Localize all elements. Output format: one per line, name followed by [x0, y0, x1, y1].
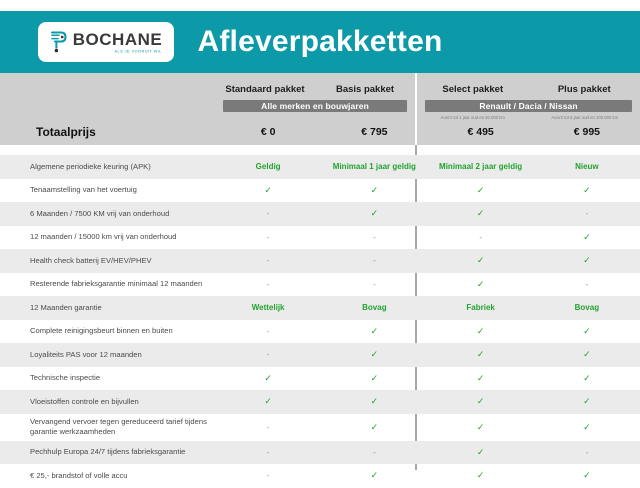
feature-value-cell: ✓	[215, 373, 321, 384]
feature-value-cell: -	[321, 233, 427, 242]
price-select: € 495	[428, 126, 534, 138]
feature-values: GeldigMinimaal 1 jaar geldigMinimaal 2 j…	[215, 155, 640, 179]
feature-value-cell: ✓	[428, 349, 534, 360]
feature-values: -✓✓✓	[215, 414, 640, 441]
feature-values: ✓✓✓✓	[215, 367, 640, 391]
feature-value-cell: ✓	[428, 326, 534, 337]
feature-value-cell: ✓	[321, 185, 427, 196]
feature-value-cell: ✓	[215, 185, 321, 196]
feature-values: --✓-	[215, 273, 640, 297]
feature-label: Resterende fabrieksgarantie minimaal 12 …	[0, 279, 215, 289]
feature-value-cell: ✓	[321, 349, 427, 360]
feature-values: ✓✓✓✓	[215, 179, 640, 203]
column-title-select: Select pakket	[417, 84, 529, 95]
group-band-all-brands: Alle merken en bouwjaren	[223, 100, 407, 112]
feature-values: -✓✓✓	[215, 464, 640, 488]
feature-label: Technische inspectie	[0, 373, 215, 383]
group-band-label: Alle merken en bouwjaren	[261, 101, 369, 111]
feature-value-cell: Fabriek	[428, 303, 534, 312]
bochane-logo[interactable]: BOCHANE ALS JE VOORUIT WIL	[38, 22, 174, 62]
feature-value-cell: -	[215, 350, 321, 359]
feature-value-cell: ✓	[428, 208, 534, 219]
feature-value-cell: -	[428, 233, 534, 242]
feature-value-cell: Bovag	[534, 303, 640, 312]
feature-value-cell: ✓	[534, 255, 640, 266]
feature-value-cell: -	[534, 209, 640, 218]
table-row: 6 Maanden / 7500 KM vrij van onderhoud-✓…	[0, 202, 640, 226]
table-row: Resterende fabrieksgarantie minimaal 12 …	[0, 273, 640, 297]
price-basis: € 795	[321, 126, 427, 138]
feature-value-cell: ✓	[321, 326, 427, 337]
table-row: Algemene periodieke keuring (APK)GeldigM…	[0, 155, 640, 179]
feature-value-cell: -	[321, 256, 427, 265]
feature-value-cell: Geldig	[215, 162, 321, 171]
feature-value-cell: ✓	[428, 447, 534, 458]
table-row: Loyaliteits PAS voor 12 maanden-✓✓✓	[0, 343, 640, 367]
column-title-standaard: Standaard pakket	[215, 84, 315, 95]
feature-values: -✓✓✓	[215, 320, 640, 344]
feature-values: ✓✓✓✓	[215, 390, 640, 414]
feature-value-cell: Minimaal 1 jaar geldig	[321, 162, 427, 171]
feature-label: Health check batterij EV/HEV/PHEV	[0, 256, 215, 266]
feature-value-cell: ✓	[534, 396, 640, 407]
feature-value-cell: Minimaal 2 jaar geldig	[428, 162, 534, 171]
feature-value-cell: Nieuw	[534, 162, 640, 171]
feature-value-cell: ✓	[428, 422, 534, 433]
feature-value-cell: ✓	[428, 279, 534, 290]
table-row: Pechhulp Europa 24/7 tijdens fabrieksgar…	[0, 441, 640, 465]
feature-value-cell: -	[215, 280, 321, 289]
feature-value-cell: ✓	[428, 396, 534, 407]
feature-value-cell: ✓	[428, 185, 534, 196]
feature-value-cell: -	[215, 256, 321, 265]
feature-label: Vloeistoffen controle en bijvullen	[0, 397, 215, 407]
table-row: Vloeistoffen controle en bijvullen✓✓✓✓	[0, 390, 640, 414]
feature-label: 12 Maanden garantie	[0, 303, 215, 313]
afleverpakketten-page: BOCHANE ALS JE VOORUIT WIL Afleverpakket…	[0, 0, 640, 480]
feature-value-cell: -	[215, 448, 321, 457]
feature-values: -✓✓-	[215, 202, 640, 226]
page-banner: BOCHANE ALS JE VOORUIT WIL Afleverpakket…	[0, 11, 640, 73]
bochane-key-icon	[50, 31, 69, 53]
feature-value-cell: -	[534, 448, 640, 457]
feature-rows: Algemene periodieke keuring (APK)GeldigM…	[0, 155, 640, 488]
logo-wordmark: BOCHANE	[73, 31, 162, 48]
feature-value-cell: Bovag	[321, 303, 427, 312]
feature-value-cell: ✓	[428, 373, 534, 384]
price-plus: € 995	[534, 126, 640, 138]
logo-tagline: ALS JE VOORUIT WIL	[115, 50, 162, 54]
feature-values: -✓✓✓	[215, 343, 640, 367]
feature-label: 12 maanden / 15000 km vrij van onderhoud	[0, 232, 215, 242]
feature-label: € 25,- brandstof of volle accu	[0, 471, 215, 481]
feature-label: Tenaamstelling van het voertuig	[0, 185, 215, 195]
feature-value-cell: ✓	[321, 396, 427, 407]
feature-value-cell: -	[215, 327, 321, 336]
feature-value-cell: -	[534, 280, 640, 289]
feature-value-cell: ✓	[534, 326, 640, 337]
feature-values: --✓-	[215, 441, 640, 465]
table-row: Complete reinigingsbeurt binnen en buite…	[0, 320, 640, 344]
table-row: Vervangend vervoer tegen gereduceerd tar…	[0, 414, 640, 441]
total-price-row: Totaalprijs € 0 € 795 € 495 € 995	[0, 118, 640, 145]
feature-label: Pechhulp Europa 24/7 tijdens fabrieksgar…	[0, 447, 215, 457]
feature-value-cell: ✓	[321, 373, 427, 384]
feature-value-cell: -	[215, 471, 321, 480]
feature-value-cell: -	[321, 448, 427, 457]
feature-value-cell: ✓	[534, 232, 640, 243]
table-row: Technische inspectie✓✓✓✓	[0, 367, 640, 391]
feature-value-cell: ✓	[215, 396, 321, 407]
feature-value-cell: ✓	[534, 422, 640, 433]
feature-value-cell: -	[321, 280, 427, 289]
feature-value-cell: -	[215, 233, 321, 242]
table-row: Tenaamstelling van het voertuig✓✓✓✓	[0, 179, 640, 203]
feature-value-cell: ✓	[428, 255, 534, 266]
total-price-label: Totaalprijs	[0, 125, 215, 139]
table-row: € 25,- brandstof of volle accu-✓✓✓	[0, 464, 640, 488]
feature-label: Loyaliteits PAS voor 12 maanden	[0, 350, 215, 360]
column-title-plus: Plus pakket	[529, 84, 640, 95]
feature-label: 6 Maanden / 7500 KM vrij van onderhoud	[0, 209, 215, 219]
feature-value-cell: ✓	[534, 349, 640, 360]
feature-value-cell: ✓	[321, 208, 427, 219]
feature-value-cell: ✓	[534, 185, 640, 196]
feature-values: WettelijkBovagFabriekBovag	[215, 296, 640, 320]
group-band-label: Renault / Dacia / Nissan	[479, 101, 577, 111]
feature-label: Algemene periodieke keuring (APK)	[0, 162, 215, 172]
feature-value-cell: Wettelijk	[215, 303, 321, 312]
price-standaard: € 0	[215, 126, 321, 138]
group-band-renault: Renault / Dacia / Nissan	[425, 100, 632, 112]
table-row: 12 Maanden garantieWettelijkBovagFabriek…	[0, 296, 640, 320]
feature-label: Vervangend vervoer tegen gereduceerd tar…	[0, 417, 215, 438]
table-row: 12 maanden / 15000 km vrij van onderhoud…	[0, 226, 640, 250]
feature-value-cell: ✓	[534, 373, 640, 384]
column-title-basis: Basis pakket	[315, 84, 415, 95]
feature-value-cell: ✓	[321, 422, 427, 433]
feature-label: Complete reinigingsbeurt binnen en buite…	[0, 326, 215, 336]
feature-value-cell: -	[215, 423, 321, 432]
feature-values: ---✓	[215, 226, 640, 250]
table-row: Health check batterij EV/HEV/PHEV--✓✓	[0, 249, 640, 273]
feature-value-cell: -	[215, 209, 321, 218]
feature-values: --✓✓	[215, 249, 640, 273]
